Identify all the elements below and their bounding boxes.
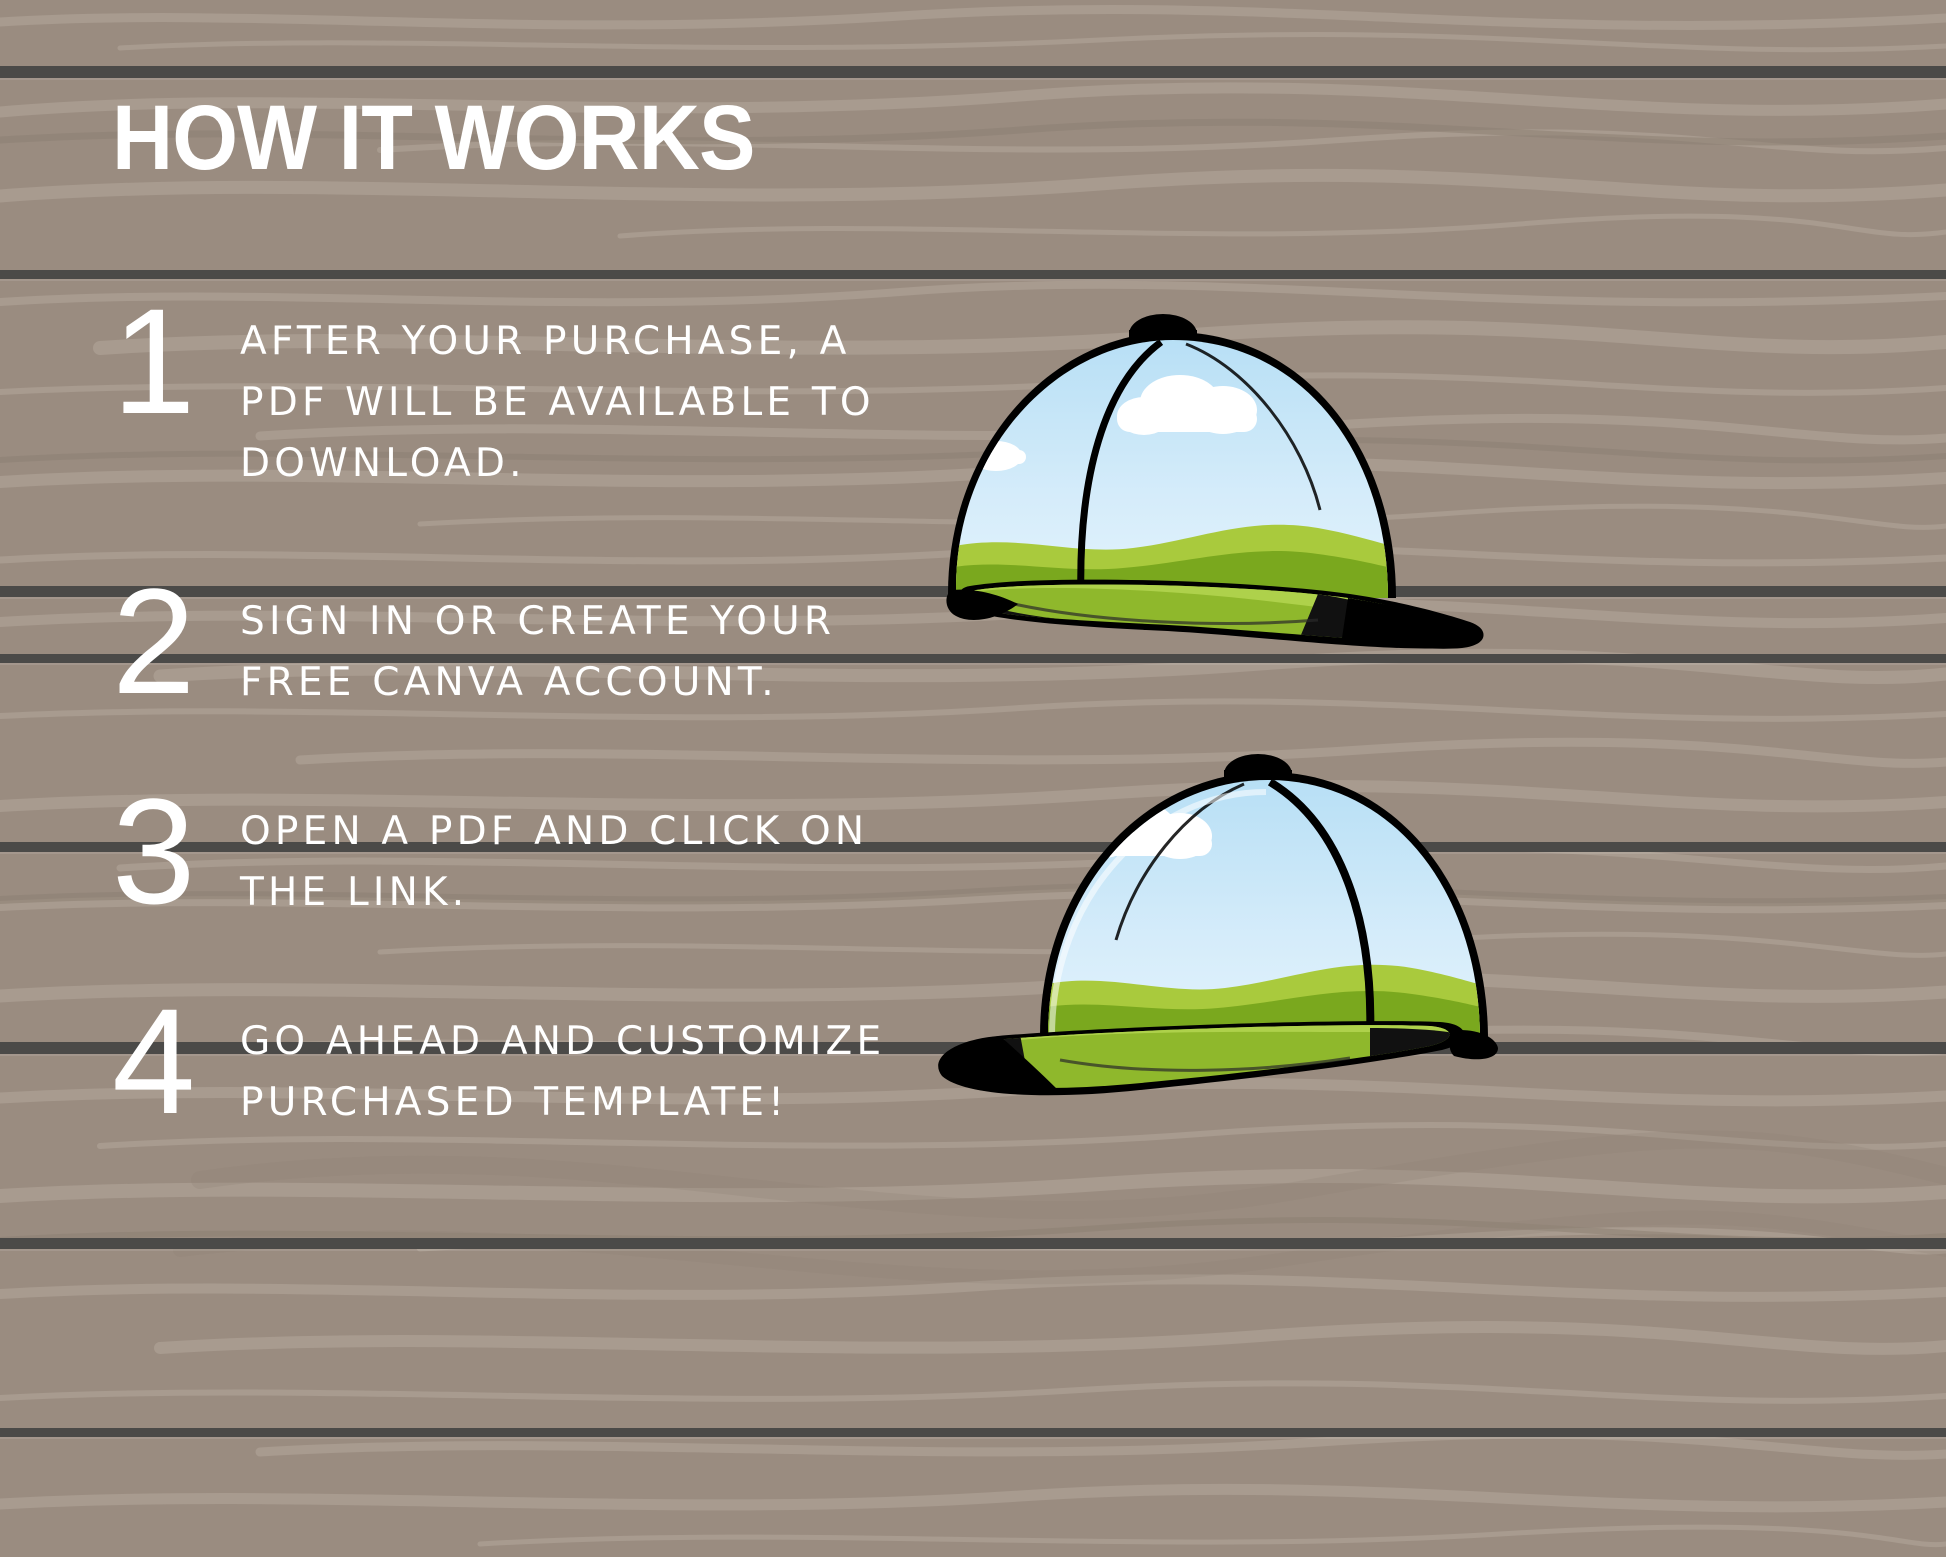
step-3-line-2: THE LINK. xyxy=(240,863,868,924)
step-text-2: SIGN IN OR CREATE YOUR FREE CANVA ACCOUN… xyxy=(240,580,835,714)
step-number-1: 1 xyxy=(112,300,240,423)
step-item-3: 3 OPEN A PDF AND CLICK ON THE LINK. xyxy=(112,790,868,924)
step-item-2: 2 SIGN IN OR CREATE YOUR FREE CANVA ACCO… xyxy=(112,580,835,714)
step-2-line-1: SIGN IN OR CREATE YOUR xyxy=(240,592,835,653)
step-1-line-2: PDF WILL BE AVAILABLE TO xyxy=(240,373,875,434)
poster-canvas: HOW IT WORKS xyxy=(0,0,1946,1557)
step-number-3: 3 xyxy=(112,790,240,913)
step-2-line-2: FREE CANVA ACCOUNT. xyxy=(240,653,835,714)
step-4-line-1: GO AHEAD AND CUSTOMIZE xyxy=(240,1012,880,1073)
step-1-line-3: DOWNLOAD. xyxy=(240,434,875,495)
step-text-3: OPEN A PDF AND CLICK ON THE LINK. xyxy=(240,790,868,924)
plank-divider-8 xyxy=(0,1428,1946,1437)
step-1-line-1: AFTER YOUR PURCHASE, A xyxy=(240,312,875,373)
step-4-line-2: PURCHASED TEMPLATE! xyxy=(240,1073,880,1134)
baseball-cap-illustration-bottom xyxy=(900,740,1540,1100)
step-item-4: 4 GO AHEAD AND CUSTOMIZE PURCHASED TEMPL… xyxy=(112,1000,880,1134)
baseball-cap-illustration-top xyxy=(918,298,1538,658)
step-number-2: 2 xyxy=(112,580,240,703)
plank-divider-1 xyxy=(0,66,1946,78)
step-text-4: GO AHEAD AND CUSTOMIZE PURCHASED TEMPLAT… xyxy=(240,1000,880,1134)
step-item-1: 1 AFTER YOUR PURCHASE, A PDF WILL BE AVA… xyxy=(112,300,875,494)
page-title: HOW IT WORKS xyxy=(112,92,754,184)
step-number-4: 4 xyxy=(112,1000,240,1123)
plank-divider-7 xyxy=(0,1238,1946,1249)
step-3-line-1: OPEN A PDF AND CLICK ON xyxy=(240,802,868,863)
step-text-1: AFTER YOUR PURCHASE, A PDF WILL BE AVAIL… xyxy=(240,300,875,494)
plank-divider-2 xyxy=(0,270,1946,279)
